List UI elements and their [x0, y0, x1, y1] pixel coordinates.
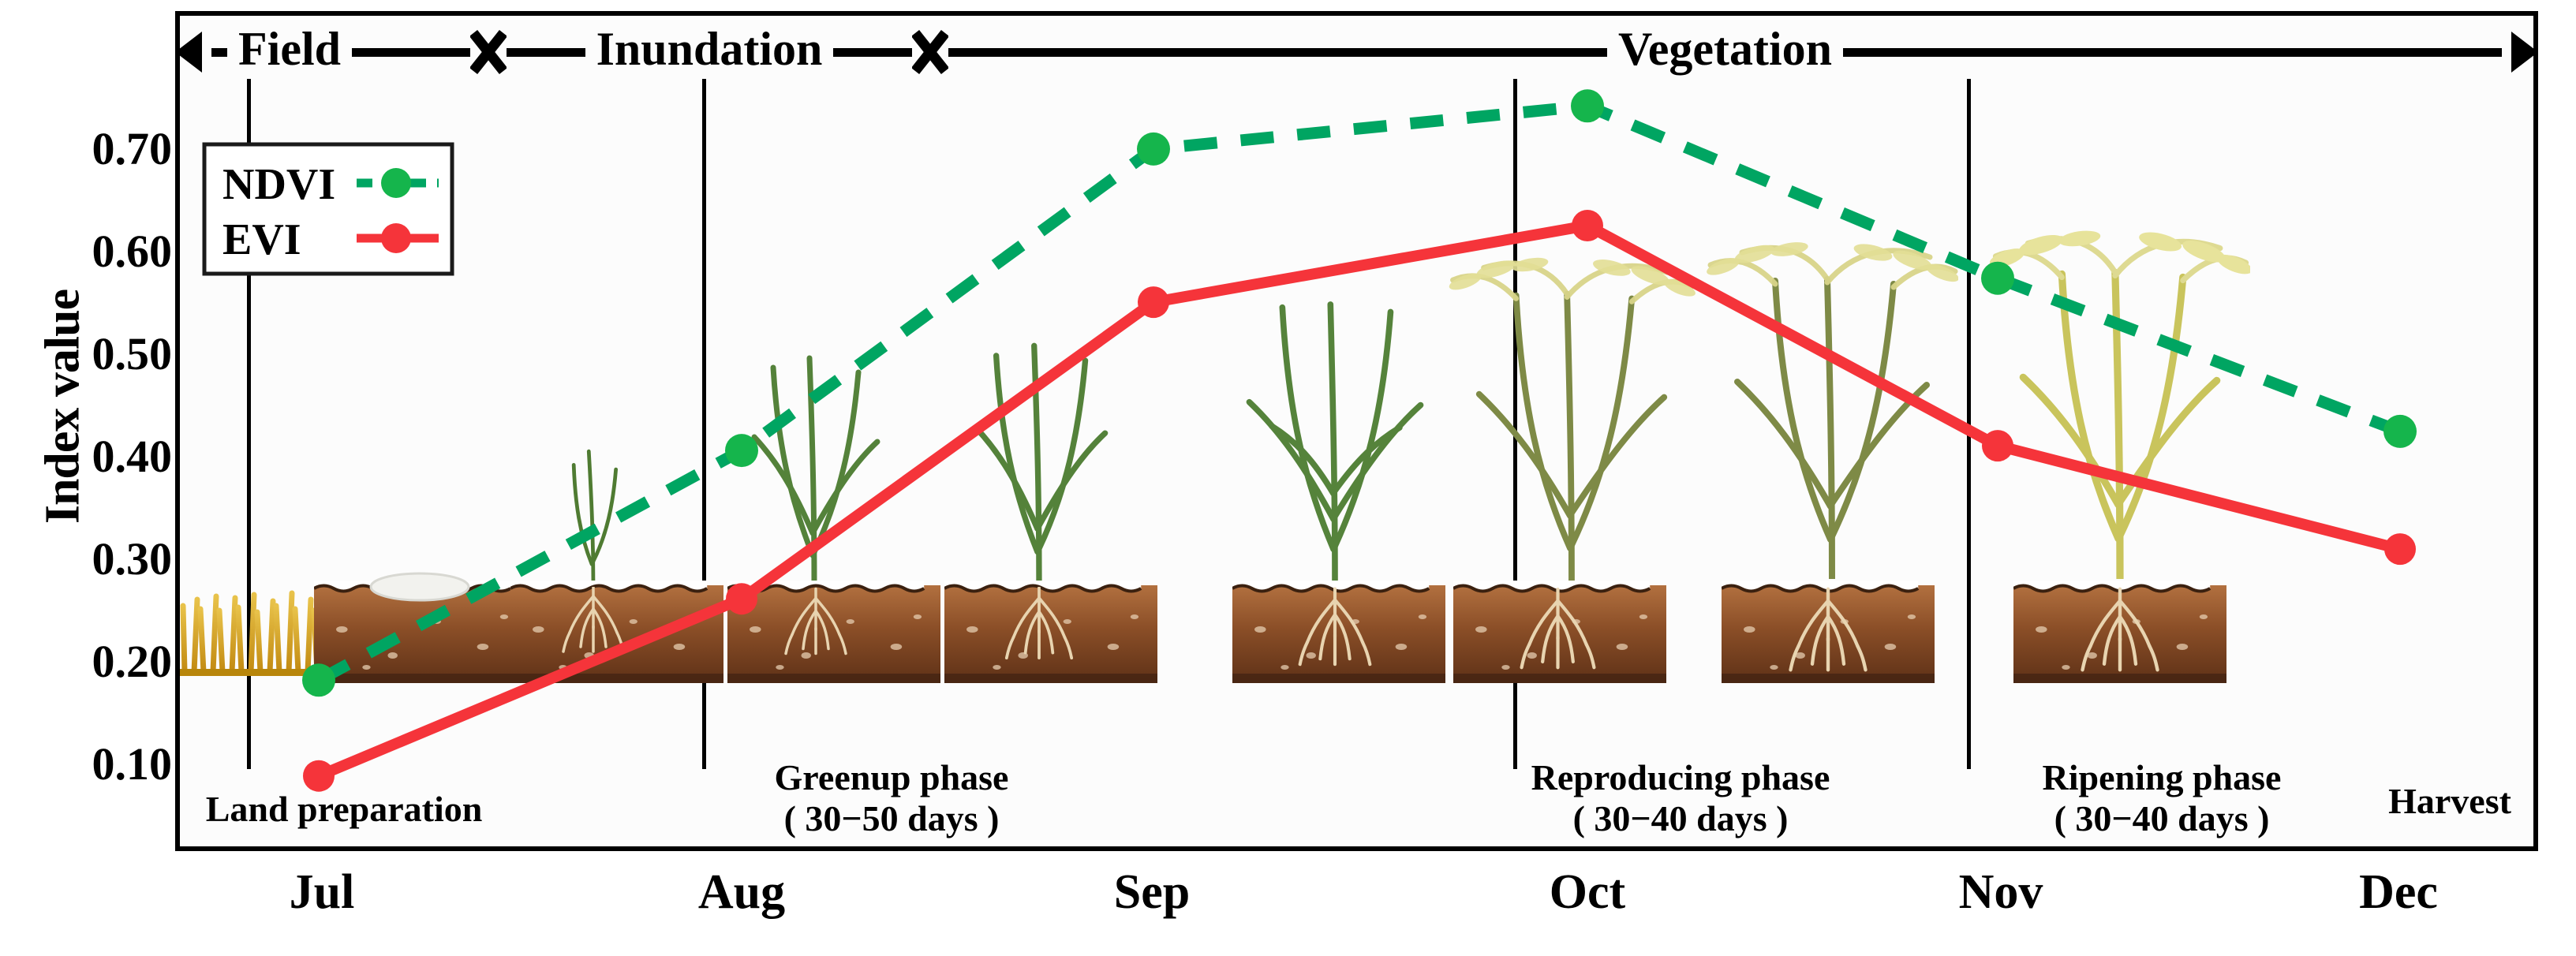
evi-series-line — [319, 226, 2400, 776]
evi-point — [1138, 286, 1169, 318]
y-tick-030: 0.30 — [0, 532, 172, 585]
ndvi-point — [725, 434, 758, 467]
phase-header-bar: Field Inundation Vegetation — [175, 14, 2538, 90]
legend-label-ndvi: NDVI — [222, 159, 335, 210]
y-tick-050: 0.50 — [0, 327, 172, 380]
caption-line1: Reproducing phase — [1452, 757, 1909, 798]
ndvi-series-line — [319, 106, 2400, 680]
evi-point — [2384, 533, 2416, 565]
figure-root: Index value 0.70 0.60 0.50 0.40 0.30 0.2… — [0, 0, 2576, 956]
caption-reproducing: Reproducing phase ( 30−40 days ) — [1452, 757, 1909, 838]
ndvi-point — [1981, 262, 2014, 295]
evi-data-points — [303, 210, 2416, 792]
phase-header-inundation: Inundation — [507, 14, 948, 90]
caption-line1: Ripening phase — [1957, 757, 2367, 798]
y-tick-060: 0.60 — [0, 225, 172, 278]
y-tick-020: 0.20 — [0, 635, 172, 688]
y-tick-070: 0.70 — [0, 122, 172, 175]
evi-point — [726, 583, 757, 614]
ndvi-point — [302, 663, 335, 696]
caption-land-preparation: Land preparation — [186, 789, 502, 830]
caption-line1: Land preparation — [186, 789, 502, 830]
index-curves — [175, 11, 2538, 851]
x-tick-jul: Jul — [211, 865, 432, 921]
x-tick-aug: Aug — [631, 865, 852, 921]
phase-label-field: Field — [227, 25, 352, 73]
phase-label-vegetation: Vegetation — [1607, 25, 1843, 73]
caption-line1: Greenup phase — [694, 757, 1089, 798]
ndvi-data-points — [302, 89, 2417, 696]
y-tick-040: 0.40 — [0, 430, 172, 483]
caption-line2: ( 30−40 days ) — [1957, 798, 2367, 839]
cross-icon — [912, 14, 948, 90]
y-axis-ticks: 0.70 0.60 0.50 0.40 0.30 0.20 0.10 — [0, 0, 172, 956]
legend-label-evi: EVI — [222, 215, 301, 265]
caption-line2: ( 30−40 days ) — [1452, 798, 1909, 839]
evi-point — [303, 760, 335, 792]
evi-point — [1982, 430, 2013, 461]
caption-ripening: Ripening phase ( 30−40 days ) — [1957, 757, 2367, 838]
x-tick-sep: Sep — [1041, 865, 1262, 921]
phase-label-inundation: Inundation — [585, 25, 834, 73]
x-tick-dec: Dec — [2288, 865, 2509, 921]
caption-harvest: Harvest — [2331, 781, 2568, 822]
phase-header-field: Field — [175, 14, 507, 90]
caption-greenup: Greenup phase ( 30−50 days ) — [694, 757, 1089, 838]
ndvi-point — [1571, 89, 1604, 122]
evi-point — [1572, 210, 1603, 241]
caption-line1: Harvest — [2331, 781, 2568, 822]
x-tick-oct: Oct — [1477, 865, 1698, 921]
cross-icon — [470, 14, 507, 90]
ndvi-point — [1137, 133, 1170, 166]
phase-header-vegetation: Vegetation — [948, 14, 2538, 90]
x-tick-nov: Nov — [1890, 865, 2111, 921]
arrow-right-icon — [2502, 14, 2538, 90]
caption-line2: ( 30−50 days ) — [694, 798, 1089, 839]
arrow-left-icon — [175, 14, 211, 90]
ndvi-point — [2383, 415, 2417, 448]
y-tick-010: 0.10 — [0, 738, 172, 790]
